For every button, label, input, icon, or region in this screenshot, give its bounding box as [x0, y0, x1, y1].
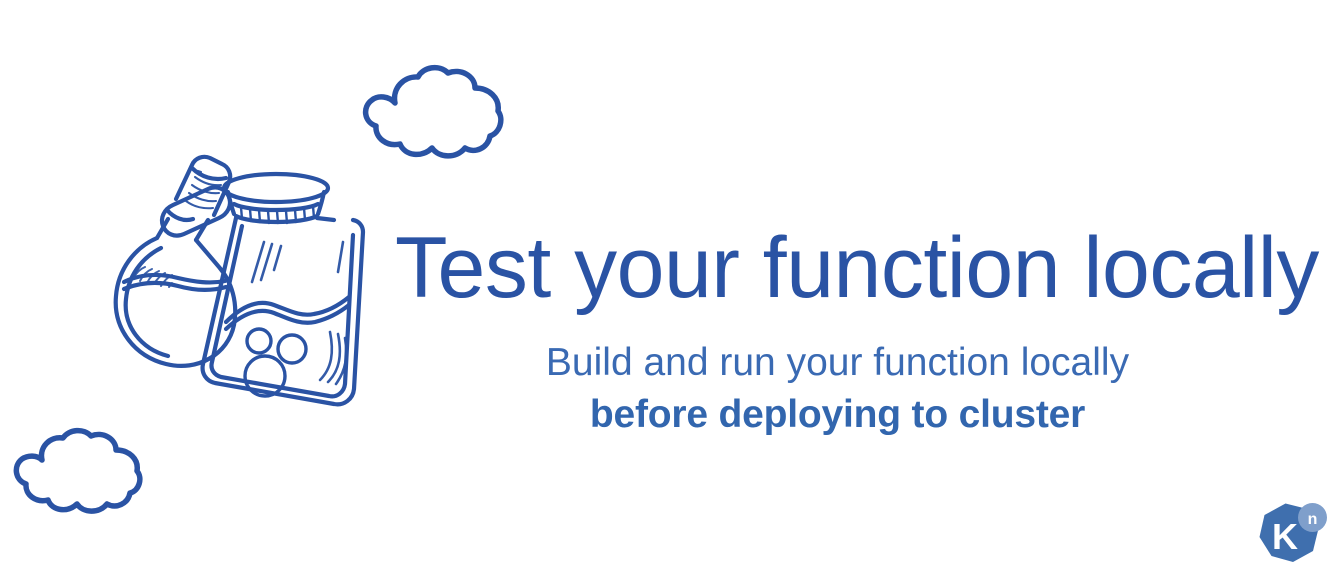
- knative-letter-n: n: [1308, 511, 1318, 528]
- knative-logo: K n: [1252, 500, 1332, 572]
- subtitle-line-1: Build and run your function locally: [395, 337, 1280, 390]
- slide-text-block: Test your function locally Build and run…: [395, 225, 1280, 442]
- slide-canvas: Test your function locally Build and run…: [0, 0, 1341, 585]
- cloud-top-icon: [352, 62, 508, 168]
- laboratory-flasks-illustration: [62, 142, 388, 422]
- subtitle-line-2: before deploying to cluster: [395, 389, 1280, 442]
- page-title: Test your function locally: [395, 225, 1280, 313]
- cloud-bottom-icon: [2, 426, 158, 518]
- slide-subtitle: Build and run your function locally befo…: [395, 337, 1280, 442]
- knative-letter-k: K: [1272, 516, 1298, 557]
